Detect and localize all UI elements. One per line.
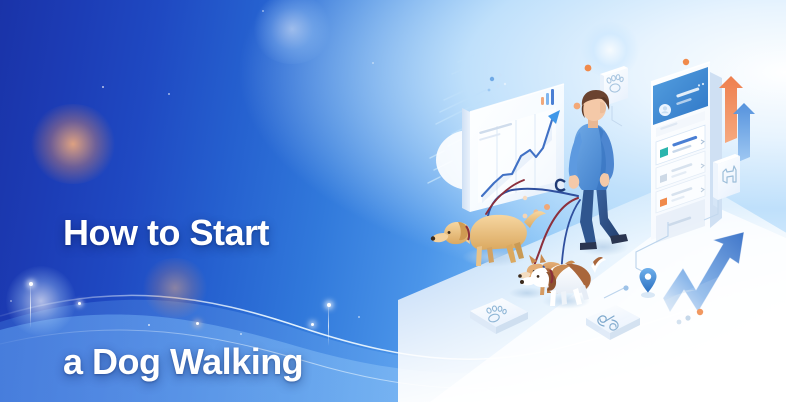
mobile-app-mockup [651, 62, 722, 243]
dog-walker-person [556, 90, 628, 250]
particle [311, 323, 314, 326]
light-streak-2 [328, 302, 329, 346]
panel-mini-bars [541, 89, 554, 105]
leash-card-floor [586, 305, 640, 340]
chihuahua-shadow [509, 287, 545, 299]
left-hand [569, 175, 580, 189]
beagle-shadow [542, 293, 590, 309]
walker-shadow [577, 238, 629, 256]
particle [262, 10, 264, 12]
analytics-dashboard-panel [436, 84, 564, 212]
light-streak-1 [30, 282, 31, 328]
location-pin [640, 268, 657, 298]
paw-icon [606, 75, 623, 93]
isometric-floor [398, 176, 786, 402]
floor-fade [398, 250, 786, 402]
retriever-shadow [462, 247, 526, 267]
beagle [520, 257, 606, 306]
growth-arrow-blue [733, 103, 755, 162]
headline-line-1: How to Start [63, 211, 303, 254]
accent-dots [456, 59, 703, 325]
deco-dots [488, 73, 507, 91]
cool-glow-top [252, 0, 332, 64]
particle [168, 93, 170, 95]
cool-glow-chart [440, 118, 530, 198]
hero-banner: How to Start a Dog Walking Business [0, 0, 786, 402]
right-hand [600, 173, 610, 187]
dog-card-right [704, 154, 740, 220]
route-node-dot [623, 285, 628, 290]
particle [29, 282, 33, 286]
deco-lines [428, 55, 492, 183]
panel-text-bars [479, 123, 512, 141]
paw-card-top [600, 66, 628, 126]
leash-icon [598, 316, 618, 330]
leashes [486, 180, 580, 288]
shoe-back [610, 234, 628, 244]
dog-silhouette-icon [723, 166, 736, 183]
paw-icon [486, 306, 507, 323]
growth-arrow-large [663, 232, 744, 312]
particle [10, 300, 12, 302]
growth-arrow-orange [719, 76, 743, 143]
page-title: How to Start a Dog Walking Business [63, 125, 303, 402]
shoe-front [580, 242, 597, 250]
paw-card-floor [470, 298, 528, 334]
headline-line-2: a Dog Walking [63, 340, 303, 383]
particle [327, 303, 331, 307]
route-wire [604, 222, 668, 298]
particle [372, 62, 374, 64]
particle [358, 316, 360, 318]
particle [102, 86, 104, 88]
cool-glow-center-top [580, 22, 640, 78]
chihuahua [518, 254, 575, 295]
golden-retriever [431, 211, 546, 266]
